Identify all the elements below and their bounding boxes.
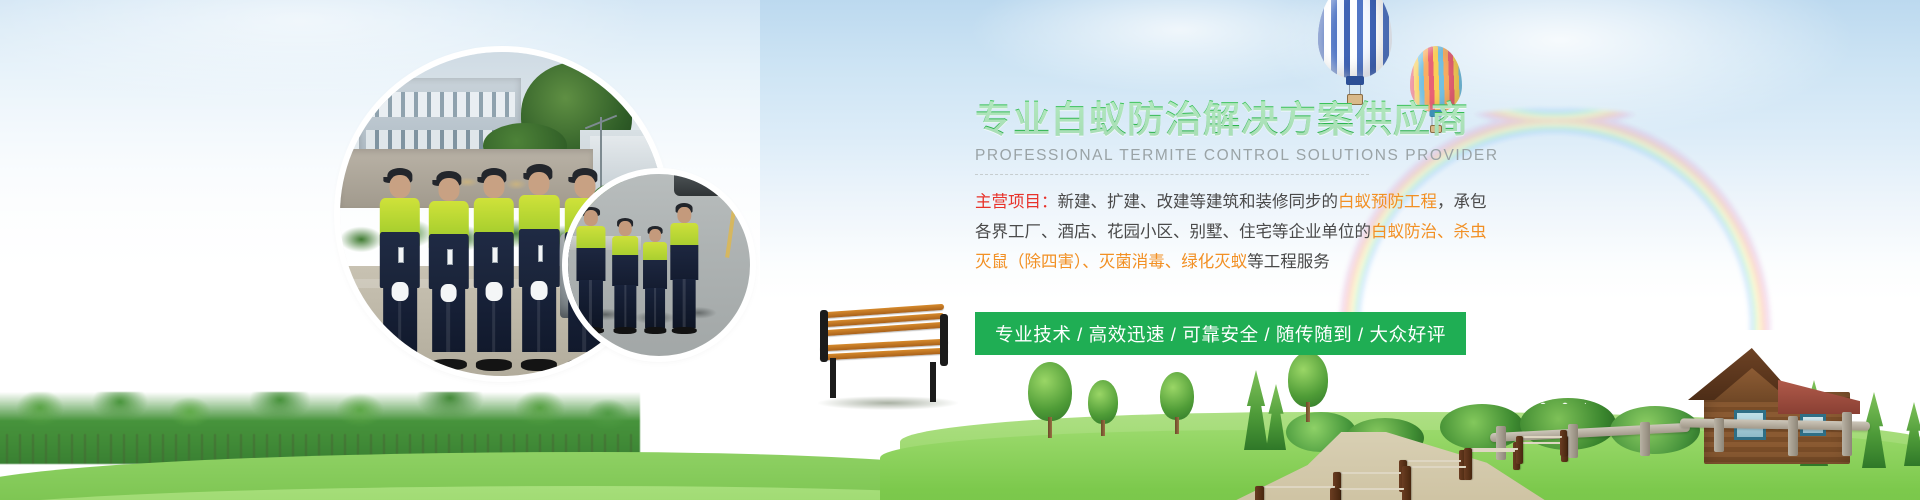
- worker-shoes: [566, 359, 602, 370]
- bench-shadow: [818, 396, 958, 410]
- fence-post: [1330, 488, 1340, 500]
- worker-head: [678, 207, 691, 223]
- photo-walker: [575, 210, 606, 330]
- worker-torso: [671, 245, 698, 280]
- photo-worker: [379, 175, 421, 363]
- worker-shoes: [612, 360, 645, 370]
- worker-torso: [576, 248, 605, 282]
- photo-collage: [340, 52, 800, 402]
- bench-backrest: [824, 304, 944, 342]
- photo-car: [674, 174, 725, 196]
- daisy-cluster: [1466, 368, 1586, 404]
- worker-head: [438, 178, 459, 200]
- tree-trunk: [1048, 417, 1052, 438]
- fence-post: [1788, 416, 1798, 456]
- feature-bar-text: 专业技术 / 高效迅速 / 可靠安全 / 随传随到 / 大众好评: [995, 321, 1446, 347]
- tree-trunk: [1175, 417, 1179, 434]
- worker-head: [529, 172, 550, 195]
- bench-seat: [820, 339, 948, 364]
- colon: ：: [1041, 193, 1058, 211]
- round-tree: [1288, 352, 1328, 422]
- worker-shoes: [521, 359, 557, 370]
- bench-leg-left: [830, 358, 836, 398]
- worker-legs: [579, 280, 603, 328]
- hero-text-block: 专业白蚁防治解决方案供应商 PROFESSIONAL TERMITE CONTR…: [975, 100, 1495, 277]
- highlight-termite-control: 白蚁防治、杀虫: [1371, 223, 1487, 241]
- fence-post: [1402, 466, 1411, 500]
- worker-gloves: [485, 282, 502, 301]
- description-text: 等工程服务: [1247, 253, 1330, 271]
- worker-head: [483, 175, 504, 198]
- photo-worker: [427, 178, 469, 363]
- tree-crown: [1160, 372, 1194, 420]
- highlight-termite-prevention: 白蚁预防工程: [1338, 193, 1437, 211]
- page-title: 专业白蚁防治解决方案供应商: [975, 100, 1495, 141]
- photo-scene: [568, 174, 750, 356]
- fence-post: [1842, 412, 1852, 456]
- hero-banner: 专业白蚁防治解决方案供应商 PROFESSIONAL TERMITE CONTR…: [0, 0, 1920, 500]
- worker-gloves: [440, 284, 457, 302]
- rope-fence-right: [1560, 430, 1780, 500]
- photo-walker: [670, 207, 699, 331]
- balloon-envelope: [1318, 0, 1392, 78]
- photo-worker: [518, 172, 560, 363]
- worker-legs: [673, 279, 696, 329]
- hot-air-balloon-blue-icon: [1318, 0, 1392, 78]
- worker-id-badge: [538, 245, 544, 262]
- description-line-1: 主营项目：新建、扩建、改建等建筑和装修同步的白蚁预防工程，承包: [975, 187, 1495, 217]
- worker-legs: [645, 288, 665, 329]
- worker-shoes: [645, 327, 666, 333]
- page-subtitle: PROFESSIONAL TERMITE CONTROL SOLUTIONS P…: [975, 147, 1495, 165]
- fence-rope: [1338, 488, 1404, 500]
- tree-trunk: [1101, 420, 1105, 436]
- worker-torso: [612, 255, 638, 286]
- fence-rope: [1261, 486, 1335, 500]
- description-line-2: 各界工厂、酒店、花园小区、别墅、住宅等企业单位的白蚁防治、杀虫: [975, 217, 1495, 247]
- worker-head: [584, 210, 598, 226]
- tree-crown: [1288, 352, 1328, 407]
- description-text: 新建、扩建、改建等建筑和装修同步的: [1058, 193, 1339, 211]
- fence-post: [1560, 430, 1567, 456]
- worker-head: [619, 221, 632, 235]
- bench-arm-left: [820, 310, 828, 362]
- worker-shoes: [382, 359, 418, 370]
- service-description: 主营项目：新建、扩建、改建等建筑和装修同步的白蚁预防工程，承包 各界工厂、酒店、…: [975, 187, 1495, 277]
- worker-head: [649, 229, 661, 242]
- worker-shoes: [578, 327, 604, 334]
- worker-shoes: [614, 327, 637, 334]
- description-text: ，承包: [1437, 193, 1487, 211]
- worker-id-badge: [492, 247, 498, 264]
- description-line-3: 灭鼠（除四害）、灭菌消毒、绿化灭蚁等工程服务: [975, 247, 1495, 277]
- worker-legs: [615, 285, 636, 329]
- worker-id-badge: [447, 249, 453, 266]
- worker-gloves: [531, 281, 548, 300]
- worker-shoes: [476, 359, 512, 370]
- feature-bar: 专业技术 / 高效迅速 / 可靠安全 / 随传随到 / 大众好评: [975, 312, 1466, 355]
- photo-walker: [612, 221, 639, 330]
- divider: [975, 174, 1369, 175]
- photo-worker: [473, 175, 515, 363]
- tree-trunk: [1306, 402, 1310, 422]
- bench-leg-right: [930, 362, 936, 402]
- worker-gloves: [392, 282, 409, 301]
- round-tree: [1088, 380, 1118, 436]
- main-services-label: 主营项目: [975, 193, 1041, 211]
- round-tree: [1160, 372, 1194, 434]
- description-text: 各界工厂、酒店、花园小区、别墅、住宅等企业单位的: [975, 223, 1371, 241]
- photo-walker: [643, 229, 668, 331]
- tree-crown: [1088, 380, 1118, 424]
- worker-head: [389, 175, 410, 198]
- worker-id-badge: [398, 247, 404, 264]
- park-bench: [818, 308, 950, 400]
- worker-shoes: [430, 359, 466, 370]
- tree-crown: [1028, 362, 1072, 421]
- bench-arm-right: [940, 314, 948, 366]
- round-tree: [1028, 362, 1072, 438]
- highlight-rodent-disinfection: 灭鼠（除四害）、灭菌消毒、绿化灭蚁: [975, 253, 1247, 271]
- fence-post: [1255, 486, 1264, 500]
- team-walking-photo: [568, 174, 750, 356]
- fence-post: [1464, 448, 1472, 480]
- worker-torso: [643, 260, 667, 289]
